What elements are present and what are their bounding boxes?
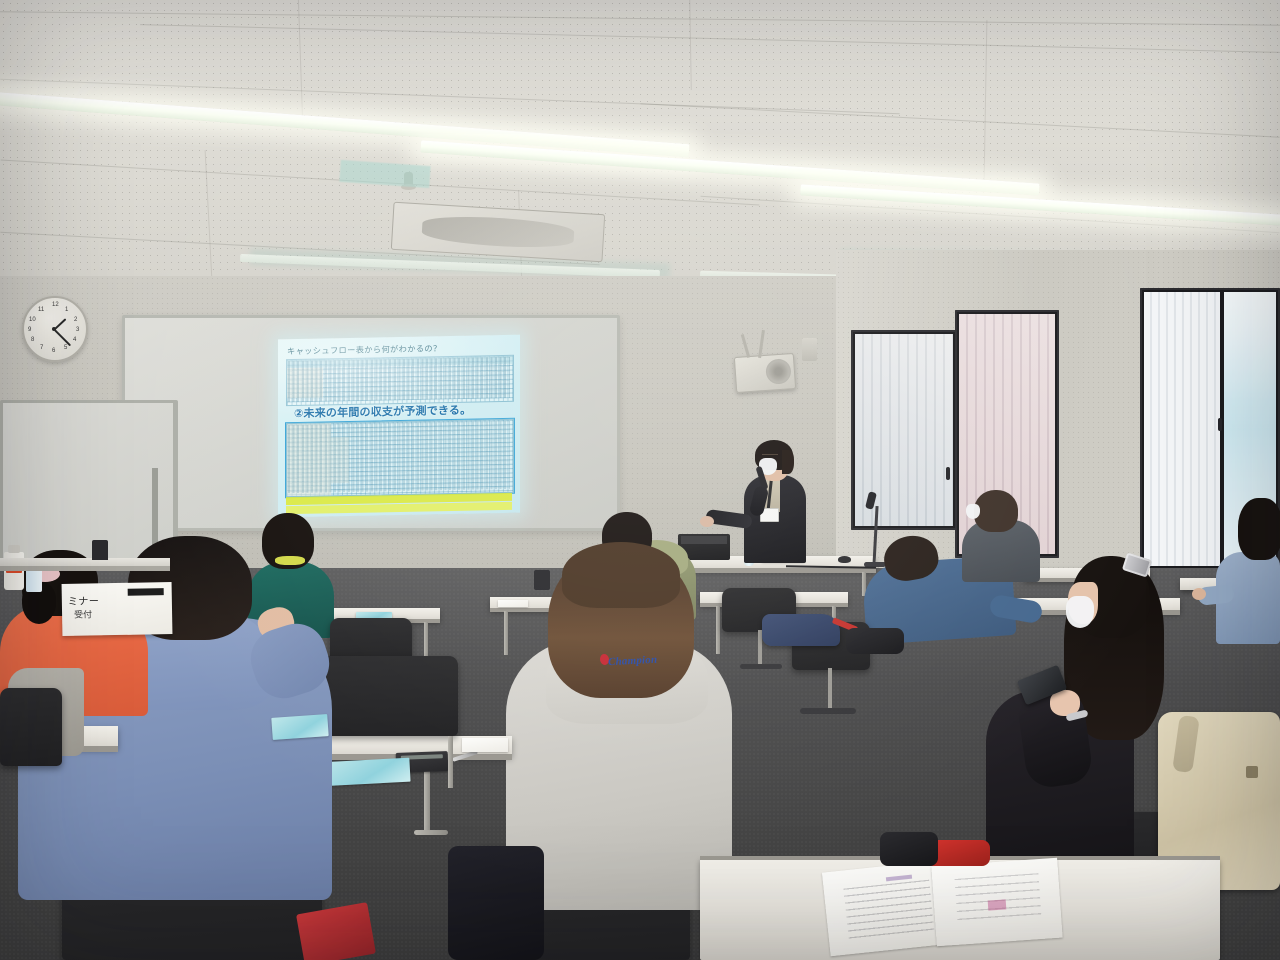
laptop-screen (681, 536, 727, 544)
window-handle[interactable] (1218, 418, 1222, 431)
desk-leg (414, 830, 448, 835)
attendee-hair (562, 542, 680, 608)
handout (462, 738, 508, 752)
attendee-hand (1192, 588, 1206, 600)
face-mask (1066, 596, 1094, 628)
computer-mouse[interactable] (838, 556, 851, 563)
face-mask (966, 504, 980, 519)
slide-table-text (288, 357, 510, 402)
attendee-head (1238, 498, 1280, 560)
phone[interactable] (534, 570, 550, 590)
desk-leg (504, 611, 508, 655)
chair-base (740, 664, 782, 669)
handout-text-lines (844, 880, 935, 941)
handout-accent (988, 899, 1007, 910)
presenter-hair (782, 450, 794, 474)
window-handle[interactable] (946, 467, 950, 480)
chair-base (800, 708, 856, 714)
attendee-head (974, 490, 1018, 532)
slide-table-text (288, 421, 510, 493)
sign-line-1: ミナー (68, 592, 100, 608)
bracket (92, 540, 108, 560)
presenter-hand (700, 516, 714, 527)
reception-sign: ミナー 受付 (62, 582, 173, 636)
chair-leg (828, 668, 832, 710)
clock-center (52, 327, 56, 331)
window-glass (1144, 292, 1220, 566)
desk-leg (716, 606, 720, 654)
window-blinds (1144, 292, 1220, 566)
chair-leg (448, 736, 453, 788)
glasses (762, 454, 778, 459)
chair[interactable] (0, 688, 62, 766)
handout (498, 600, 528, 607)
sign-line-2: 受付 (74, 607, 92, 620)
desk-leg (424, 622, 428, 658)
back-counter-edge (0, 566, 170, 571)
chair[interactable] (318, 656, 458, 736)
champion-wordmark: Champion (608, 654, 658, 669)
booklet[interactable] (319, 758, 410, 787)
presenter-desk-edge (676, 568, 876, 573)
booklet[interactable] (271, 714, 328, 740)
bag (846, 628, 904, 654)
projected-slide: キャッシュフロー表から何がわかるの？ ②未来の年間の収支が予測できる。 (278, 335, 520, 518)
draped-jacket (762, 614, 840, 646)
bag-buckle (1246, 766, 1258, 778)
bag (448, 846, 544, 960)
dark-bag (880, 832, 938, 866)
wall-sensor (802, 338, 817, 361)
wall-clock: 12 1 2 3 4 5 6 7 8 9 10 11 (22, 296, 88, 362)
sign-bar (128, 588, 164, 596)
collar (275, 556, 305, 565)
handout-text-lines (955, 873, 1042, 923)
classroom-photo-scene: 12 1 2 3 4 5 6 7 8 9 10 11 キャッシュフロー表から何が… (0, 0, 1280, 960)
wall-blower (734, 353, 796, 393)
